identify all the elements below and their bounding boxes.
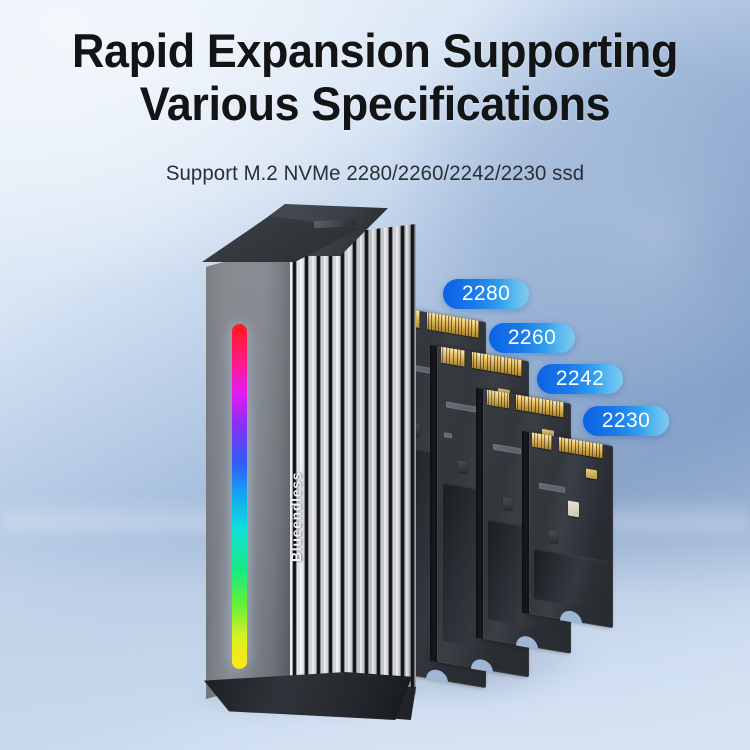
enclosure-heatsink-fins [288,224,416,714]
ssd-module-2230 [529,432,613,628]
headline-line-1: Rapid Expansion Supporting [72,24,678,77]
page-subtitle: Support M.2 NVMe 2280/2260/2242/2230 ssd [11,162,739,186]
spec-badge-2242[interactable]: 2242 [537,364,623,394]
component-chip [568,500,579,517]
brand-logo-text: Blueendless [288,472,304,562]
product-banner: Rapid Expansion Supporting Various Speci… [0,0,750,750]
ssd-enclosure: Blueendless [196,206,432,706]
spec-badge-label: 2260 [508,326,556,350]
spec-badge-2230[interactable]: 2230 [583,406,669,436]
spec-badge-label: 2280 [462,282,510,306]
spec-badge-label: 2242 [556,367,604,391]
spec-badge-2260[interactable]: 2260 [489,323,575,353]
component-chip [549,530,558,543]
rgb-light-bar [232,324,247,669]
component-chip [458,460,467,473]
spec-badge-label: 2230 [602,409,650,433]
headline-line-2: Various Specifications [17,77,733,130]
page-title: Rapid Expansion Supporting Various Speci… [17,24,733,130]
component-chip [503,497,512,510]
spec-badge-2280[interactable]: 2280 [443,279,529,309]
